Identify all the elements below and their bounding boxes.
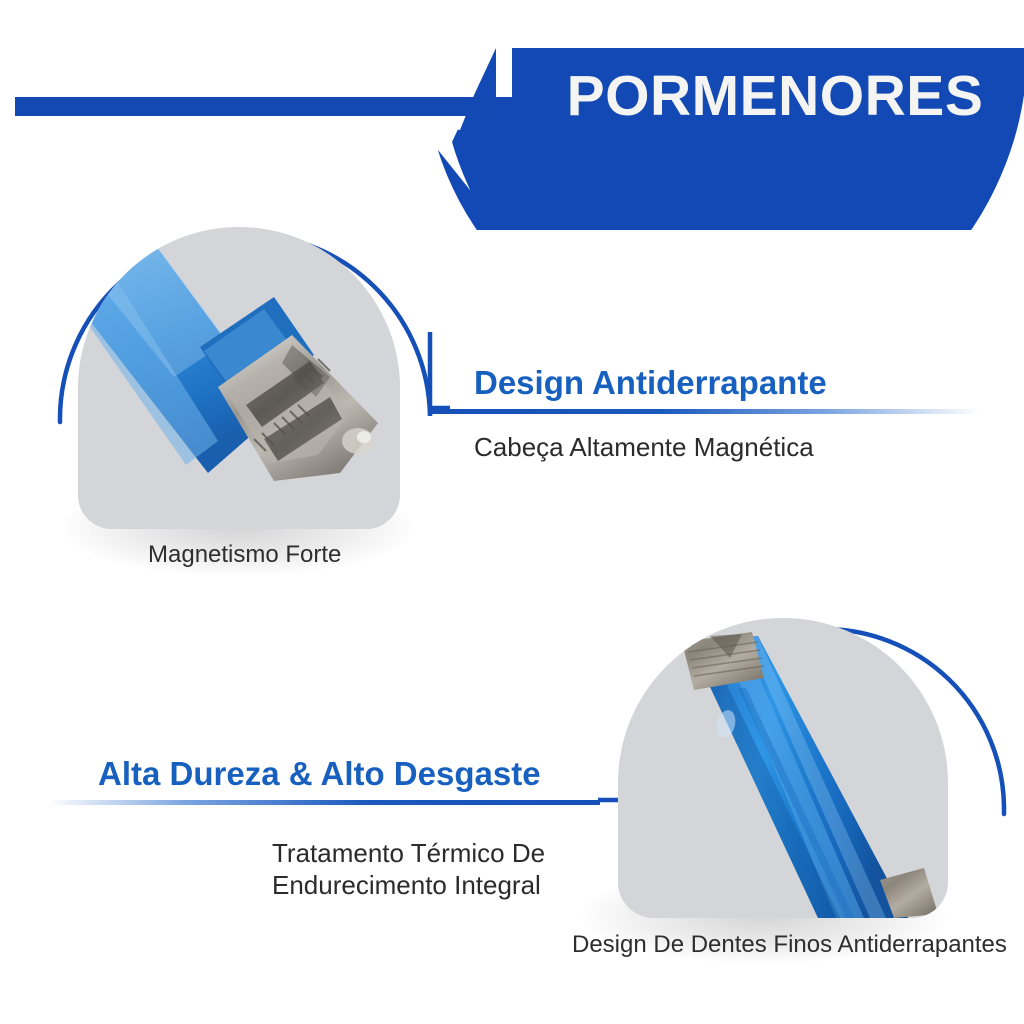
header-bowl-left-cut bbox=[400, 30, 500, 130]
heading-alta-dureza: Alta Dureza & Alto Desgaste bbox=[98, 757, 541, 790]
heading-underline-1 bbox=[430, 409, 980, 414]
screwdriver-shaft-illustration bbox=[618, 618, 948, 918]
product-photo-hardness bbox=[618, 618, 948, 918]
page-title: PORMENORES bbox=[540, 68, 1010, 125]
subtext-tratamento-termico-line1: Tratamento Térmico De bbox=[272, 838, 545, 869]
photo-caption-hardness: Design De Dentes Finos Antiderrapantes bbox=[572, 933, 1007, 957]
header-bar-tip-wedge bbox=[496, 48, 512, 97]
header-left-diagonal bbox=[400, 0, 540, 150]
screwdriver-bit-illustration bbox=[78, 227, 400, 529]
heading-design-antiderrapante: Design Antiderrapante bbox=[474, 366, 827, 399]
header-rule-bar bbox=[15, 97, 510, 116]
header-rule-bar-overlay bbox=[15, 97, 507, 116]
heading-underline-2 bbox=[48, 800, 600, 805]
subtext-cabeca-magnetica: Cabeça Altamente Magnética bbox=[474, 432, 814, 463]
subtext-tratamento-termico-line2: Endurecimento Integral bbox=[272, 870, 541, 901]
header-notch-mask bbox=[424, 0, 512, 48]
callout-connector-1 bbox=[392, 330, 452, 420]
photo-caption-magnetism: Magnetismo Forte bbox=[148, 543, 341, 567]
product-photo-magnetism bbox=[78, 227, 400, 529]
